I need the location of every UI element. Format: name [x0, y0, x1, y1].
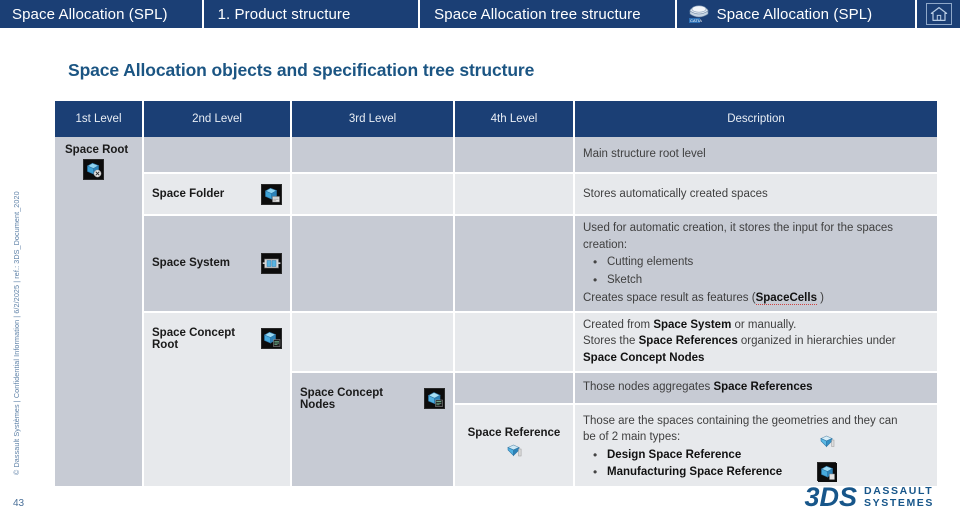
space-system-label: Space System — [152, 257, 230, 269]
desc-pre: Those nodes aggregates — [583, 381, 713, 393]
desc-pre: Stores the — [583, 335, 639, 347]
table-row: Space Concept Root — [55, 312, 937, 372]
cell-level4-empty — [454, 137, 574, 173]
description-tail: Creates space result as features (SpaceC… — [583, 290, 929, 307]
cell-level4-empty — [454, 312, 574, 372]
nav-tab-space-allocation-spl-active[interactable]: CATIA Space Allocation (SPL) — [677, 0, 916, 28]
space-concept-root-label: Space Concept Root — [152, 327, 253, 351]
cell-level2-space-folder: Space Folder — [143, 173, 291, 215]
space-system-icon — [261, 253, 282, 274]
desc-tail-post: ) — [817, 292, 824, 304]
table-row: Space Root — [55, 137, 937, 173]
bullet-item: Design Space Reference — [589, 447, 929, 464]
cell-level3-space-concept-nodes: Space Concept Nodes — [291, 372, 454, 488]
description-lead: Those are the spaces containing the geom… — [583, 413, 903, 446]
manufacturing-space-reference-label: Manufacturing Space Reference — [607, 466, 782, 478]
ds-logo-line-1: DASSAULT — [864, 485, 933, 497]
nav-tab-label: Space Allocation tree structure — [434, 7, 641, 22]
space-concept-nodes-icon — [424, 388, 445, 409]
nav-tab-label: Space Allocation (SPL) — [12, 7, 168, 22]
cell-level4-space-reference: Space Reference — [454, 404, 574, 488]
ds-logo-mark: 3DS — [804, 487, 857, 509]
space-reference-label: Space Reference — [468, 427, 561, 439]
description-line-2: Stores the Space References organized in… — [583, 333, 929, 366]
table-row: Space System Used for — [55, 215, 937, 312]
cell-level2-space-system: Space System — [143, 215, 291, 312]
space-system-term: Space System — [653, 319, 731, 331]
space-folder-icon — [261, 184, 282, 205]
description-bullet-list: Cutting elements Sketch — [589, 254, 929, 289]
description-lead: Used for automatic creation, it stores t… — [583, 220, 929, 253]
cell-level3-empty — [291, 312, 454, 372]
table-header-row: 1st Level 2nd Level 3rd Level 4th Level … — [55, 101, 937, 137]
cell-level3-empty — [291, 215, 454, 312]
space-root-label: Space Root — [65, 144, 128, 156]
description-bullet-list: Design Space Reference — [589, 447, 929, 482]
manufacturing-space-reference-icon — [817, 462, 836, 481]
column-header-2nd-level: 2nd Level — [143, 101, 291, 137]
cell-level3-empty — [291, 173, 454, 215]
cell-level4-empty — [454, 372, 574, 404]
nav-tab-space-allocation-tree-structure[interactable]: Space Allocation tree structure — [420, 0, 674, 28]
space-references-term: Space References — [713, 381, 812, 393]
nav-tab-label: 1. Product structure — [218, 7, 351, 22]
cell-description: Those are the spaces containing the geom… — [574, 404, 937, 488]
column-header-3rd-level: 3rd Level — [291, 101, 454, 137]
cell-level2-space-concept-root: Space Concept Root — [143, 312, 291, 488]
ds-logo-wordmark: DASSAULT SYSTEMES — [864, 486, 934, 509]
desc-post: or manually. — [731, 319, 796, 331]
spacecells-term: SpaceCells — [756, 292, 817, 305]
dassault-systemes-logo: 3DS DASSAULT SYSTEMES — [804, 486, 934, 509]
home-icon — [926, 3, 952, 25]
design-space-reference-icon — [817, 433, 836, 452]
cell-level2-empty — [143, 137, 291, 173]
svg-text:CATIA: CATIA — [690, 18, 702, 23]
cell-level1-space-root: Space Root — [55, 137, 143, 487]
app-module-icon: CATIA — [687, 4, 711, 24]
bullet-item: Manufacturing Space Reference — [589, 464, 929, 481]
space-reference-icon — [504, 442, 525, 463]
table-row: Space Folder Stor — [55, 173, 937, 215]
column-header-description: Description — [574, 101, 937, 137]
page-title: Space Allocation objects and specificati… — [68, 60, 534, 81]
description-block: Those are the spaces containing the geom… — [583, 413, 929, 482]
column-header-1st-level: 1st Level — [55, 101, 143, 137]
design-space-reference-label: Design Space Reference — [607, 449, 741, 461]
space-allocation-structure-table: 1st Level 2nd Level 3rd Level 4th Level … — [55, 101, 937, 488]
space-references-term: Space References — [639, 335, 738, 347]
cell-level4-empty — [454, 215, 574, 312]
space-concept-nodes-label: Space Concept Nodes — [300, 387, 416, 411]
home-button[interactable] — [917, 0, 960, 28]
bullet-item: Sketch — [589, 272, 929, 289]
description-text: Stores automatically created spaces — [583, 186, 929, 203]
nav-tab-label: Space Allocation (SPL) — [717, 7, 873, 22]
space-concept-nodes-term: Space Concept Nodes — [583, 352, 704, 364]
bullet-item: Cutting elements — [589, 254, 929, 271]
space-root-icon — [83, 159, 104, 180]
desc-pre: Created from — [583, 319, 653, 331]
space-concept-root-icon — [261, 328, 282, 349]
cell-level3-empty — [291, 137, 454, 173]
space-folder-label: Space Folder — [152, 188, 224, 200]
cell-description: Main structure root level — [574, 137, 937, 173]
desc-mid: organized in hierarchies under — [738, 335, 896, 347]
description-block: Created from Space System or manually. S… — [583, 317, 929, 367]
page-number: 43 — [13, 498, 24, 509]
cell-description: Stores automatically created spaces — [574, 173, 937, 215]
cell-description: Those nodes aggregates Space References — [574, 372, 937, 404]
description-block: Used for automatic creation, it stores t… — [583, 220, 929, 307]
top-navigation-bar: Space Allocation (SPL) 1. Product struct… — [0, 0, 960, 28]
description-line-1: Created from Space System or manually. — [583, 317, 929, 334]
desc-tail-pre: Creates space result as features ( — [583, 292, 756, 304]
nav-tab-product-structure[interactable]: 1. Product structure — [204, 0, 419, 28]
cell-description: Created from Space System or manually. S… — [574, 312, 937, 372]
cell-description: Used for automatic creation, it stores t… — [574, 215, 937, 312]
cell-level4-empty — [454, 173, 574, 215]
description-text: Those nodes aggregates Space References — [583, 379, 929, 396]
nav-tab-space-allocation-spl[interactable]: Space Allocation (SPL) — [0, 0, 202, 28]
ds-logo-line-2: SYSTEMES — [864, 497, 934, 509]
column-header-4th-level: 4th Level — [454, 101, 574, 137]
description-text: Main structure root level — [583, 146, 929, 163]
